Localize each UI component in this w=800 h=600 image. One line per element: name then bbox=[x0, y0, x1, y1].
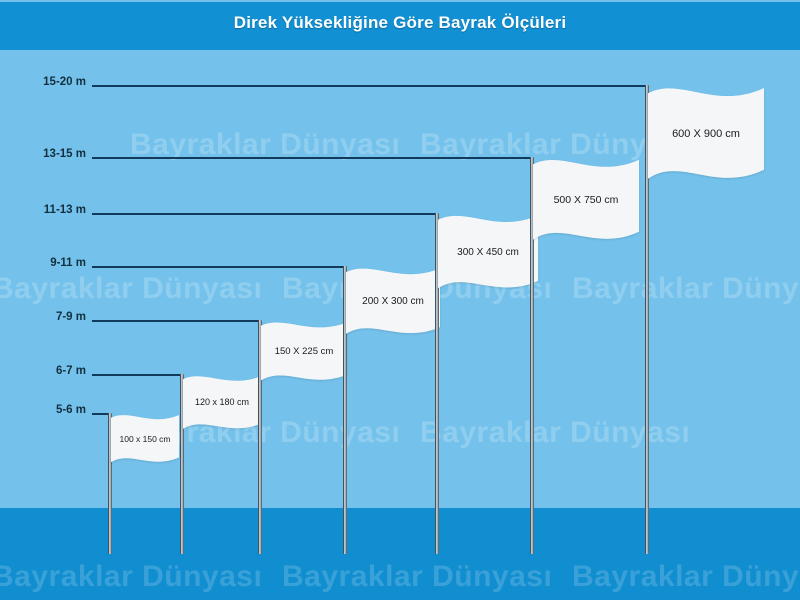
flag-size-label: 500 X 750 cm bbox=[533, 194, 639, 206]
flag-7: 600 X 900 cm bbox=[648, 86, 764, 186]
flag-size-label: 200 X 300 cm bbox=[346, 296, 440, 307]
flag-size-label: 150 X 225 cm bbox=[261, 346, 347, 357]
flag-1: 100 x 150 cm bbox=[111, 414, 179, 466]
flag-size-label: 300 X 450 cm bbox=[438, 247, 538, 258]
flag-size-label: 120 x 180 cm bbox=[183, 397, 261, 407]
axis-label-4: 9-11 m bbox=[50, 257, 86, 269]
axis-label-2: 13-15 m bbox=[43, 148, 86, 160]
page-title: Direk Yüksekliğine Göre Bayrak Ölçüleri bbox=[0, 13, 800, 33]
sea-background bbox=[0, 508, 800, 600]
flag-5: 300 X 450 cm bbox=[438, 214, 538, 294]
flag-6: 500 X 750 cm bbox=[533, 158, 639, 246]
axis-leader-line bbox=[92, 374, 182, 376]
axis-label-5: 7-9 m bbox=[56, 311, 86, 323]
axis-label-7: 5-6 m bbox=[56, 404, 86, 416]
axis-leader-line bbox=[92, 266, 345, 268]
axis-label-3: 11-13 m bbox=[44, 204, 86, 216]
flag-4: 200 X 300 cm bbox=[346, 267, 440, 339]
header-bar: Direk Yüksekliğine Göre Bayrak Ölçüleri bbox=[0, 2, 800, 50]
flag-size-label: 600 X 900 cm bbox=[648, 128, 764, 140]
axis-label-6: 6-7 m bbox=[56, 365, 86, 377]
flag-2: 120 x 180 cm bbox=[183, 375, 261, 433]
infographic-stage: Bayraklar DünyasıBayraklar DünyasıBayrak… bbox=[0, 0, 800, 600]
axis-leader-line bbox=[92, 85, 647, 87]
axis-label-1: 15-20 m bbox=[43, 76, 86, 88]
axis-leader-line bbox=[92, 157, 532, 159]
axis-leader-line bbox=[92, 213, 437, 215]
flag-3: 150 X 225 cm bbox=[261, 321, 347, 385]
flag-size-label: 100 x 150 cm bbox=[111, 434, 179, 444]
axis-leader-line bbox=[92, 320, 260, 322]
